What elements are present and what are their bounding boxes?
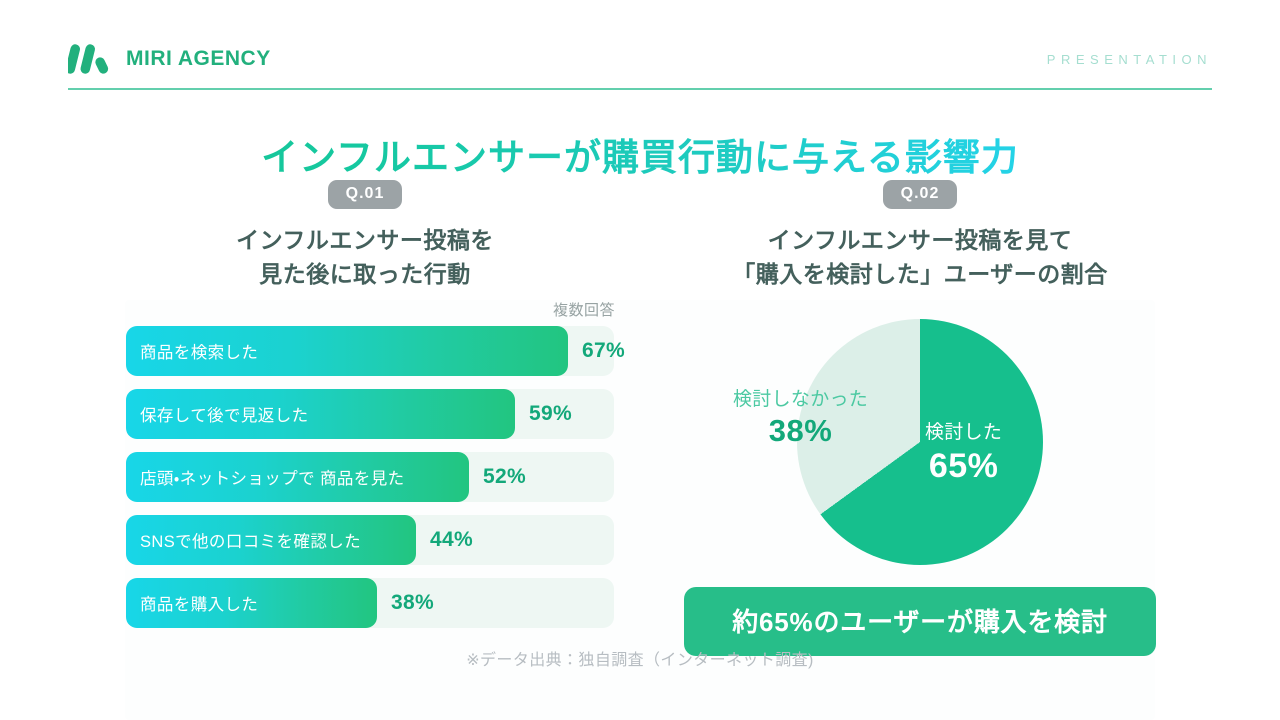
bar-label: SNSで他の口コミを確認した — [126, 528, 361, 552]
bar-row: 店頭・ネットショップで 商品を見た 52% — [126, 452, 614, 502]
miri-m-logo-icon — [68, 42, 112, 76]
brand-name: MIRI AGENCY — [126, 47, 271, 71]
q01-heading: インフルエンサー投稿を 見た後に取った行動 — [100, 223, 630, 291]
q01-heading-line1: インフルエンサー投稿を — [100, 223, 630, 257]
presentation-label: PRESENTATION — [1047, 52, 1212, 67]
bar-value: 52% — [483, 452, 526, 502]
bar-fill: 店頭・ネットショップで 商品を見た — [126, 452, 469, 502]
pie-slice-value: 38% — [733, 413, 868, 450]
bar-row: 商品を購入した 38% — [126, 578, 614, 628]
bar-row: 保存して後で見返した 59% — [126, 389, 614, 439]
header-divider — [68, 88, 1212, 90]
bar-fill: SNSで他の口コミを確認した — [126, 515, 416, 565]
bar-chart: 商品を検索した 67% 保存して後で見返した 59% 店頭・ネットショップで 商… — [100, 326, 630, 628]
pie-slice-value: 65% — [925, 446, 1002, 486]
q01-heading-line2: 見た後に取った行動 — [100, 257, 630, 291]
question-two-section: Q.02 インフルエンサー投稿を見て 「購入を検討した」ユーザーの割合 検討した… — [655, 180, 1185, 656]
multiple-answers-note: 複数回答 — [100, 299, 630, 320]
bar-row: 商品を検索した 67% — [126, 326, 614, 376]
q02-heading-line2: 「購入を検討した」ユーザーの割合 — [655, 257, 1185, 291]
q02-heading-line1: インフルエンサー投稿を見て — [655, 223, 1185, 257]
bar-value: 38% — [391, 578, 434, 628]
pie-slice-label-considered: 検討した 65% — [925, 422, 1002, 487]
q02-heading: インフルエンサー投稿を見て 「購入を検討した」ユーザーの割合 — [655, 223, 1185, 291]
bar-label: 商品を検索した — [126, 339, 258, 363]
bar-label: 店頭・ネットショップで 商品を見た — [126, 465, 405, 489]
slide-header: MIRI AGENCY PRESENTATION — [68, 30, 1212, 88]
pie-slice-name: 検討しなかった — [733, 389, 868, 411]
pie-slice-label-not-considered: 検討しなかった 38% — [733, 389, 868, 450]
bar-fill: 保存して後で見返した — [126, 389, 515, 439]
page-title: インフルエンサーが購買行動に与える影響力 — [0, 127, 1280, 181]
bar-value: 67% — [582, 326, 625, 376]
pie-slice-name: 検討した — [925, 422, 1002, 444]
pie-chart: 検討した 65% 検討しなかった 38% — [797, 319, 1043, 565]
bar-value: 44% — [430, 515, 473, 565]
bar-label: 保存して後で見返した — [126, 402, 309, 426]
bar-fill: 商品を検索した — [126, 326, 568, 376]
brand-lockup: MIRI AGENCY — [68, 42, 271, 76]
q02-badge: Q.02 — [883, 180, 958, 209]
bar-value: 59% — [529, 389, 572, 439]
slide-canvas: MIRI AGENCY PRESENTATION インフルエンサーが購買行動に与… — [0, 0, 1280, 720]
q01-badge: Q.01 — [328, 180, 403, 209]
question-one-section: Q.01 インフルエンサー投稿を 見た後に取った行動 複数回答 商品を検索した … — [100, 180, 630, 628]
bar-label: 商品を購入した — [126, 591, 258, 615]
source-note: ※データ出典：独自調査（インターネット調査) — [0, 646, 1280, 670]
bar-fill: 商品を購入した — [126, 578, 377, 628]
bar-row: SNSで他の口コミを確認した 44% — [126, 515, 614, 565]
